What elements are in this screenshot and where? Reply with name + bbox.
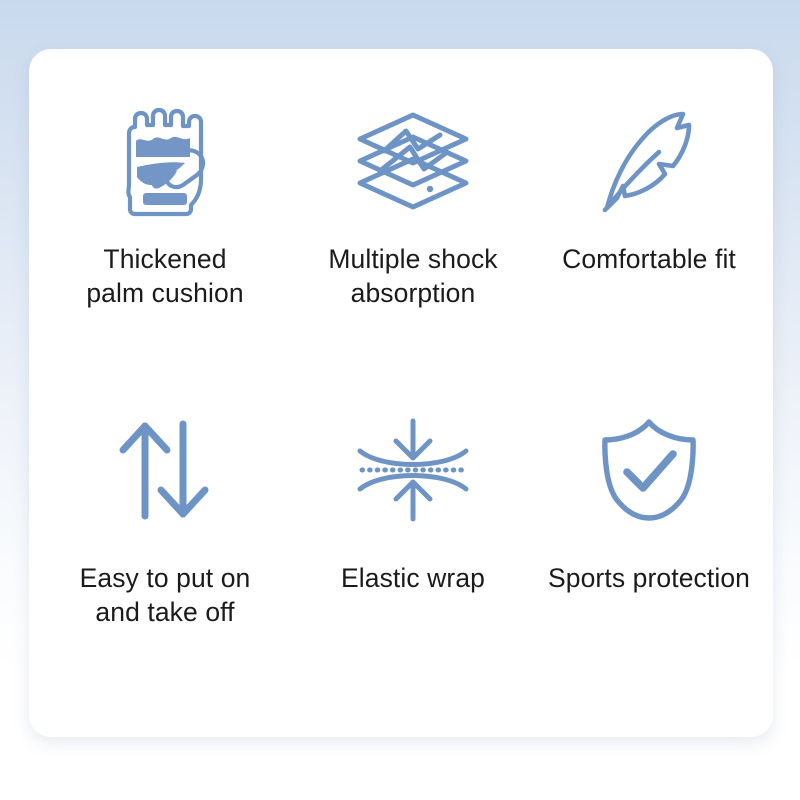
feature-item-easy-to-put-on[interactable]: Easy to put on and take off [35,402,295,709]
glove-icon [111,95,219,227]
feature-label: Sports protection [548,562,750,596]
elastic-compression-icon [352,402,474,538]
feature-item-thickened-palm-cushion[interactable]: Thickened palm cushion [35,95,295,402]
feature-item-sports-protection[interactable]: Sports protection [531,402,767,709]
feature-label: Comfortable fit [562,243,736,277]
shield-check-icon [597,402,701,538]
feature-label: Thickened palm cushion [86,243,243,310]
feature-grid: Thickened palm cushion [29,49,773,737]
feature-label: Easy to put on and take off [35,562,295,629]
feature-item-multiple-shock-absorption[interactable]: Multiple shock absorption [295,95,531,402]
feature-item-elastic-wrap[interactable]: Elastic wrap [295,402,531,709]
feature-label: Elastic wrap [341,562,485,596]
page-background: Thickened palm cushion [0,0,800,800]
feature-item-comfortable-fit[interactable]: Comfortable fit [531,95,767,402]
layers-icon [354,95,472,227]
up-down-arrows-icon [115,402,215,538]
feature-label: Multiple shock absorption [328,243,497,310]
feather-icon [595,95,703,227]
feature-card: Thickened palm cushion [29,49,773,737]
